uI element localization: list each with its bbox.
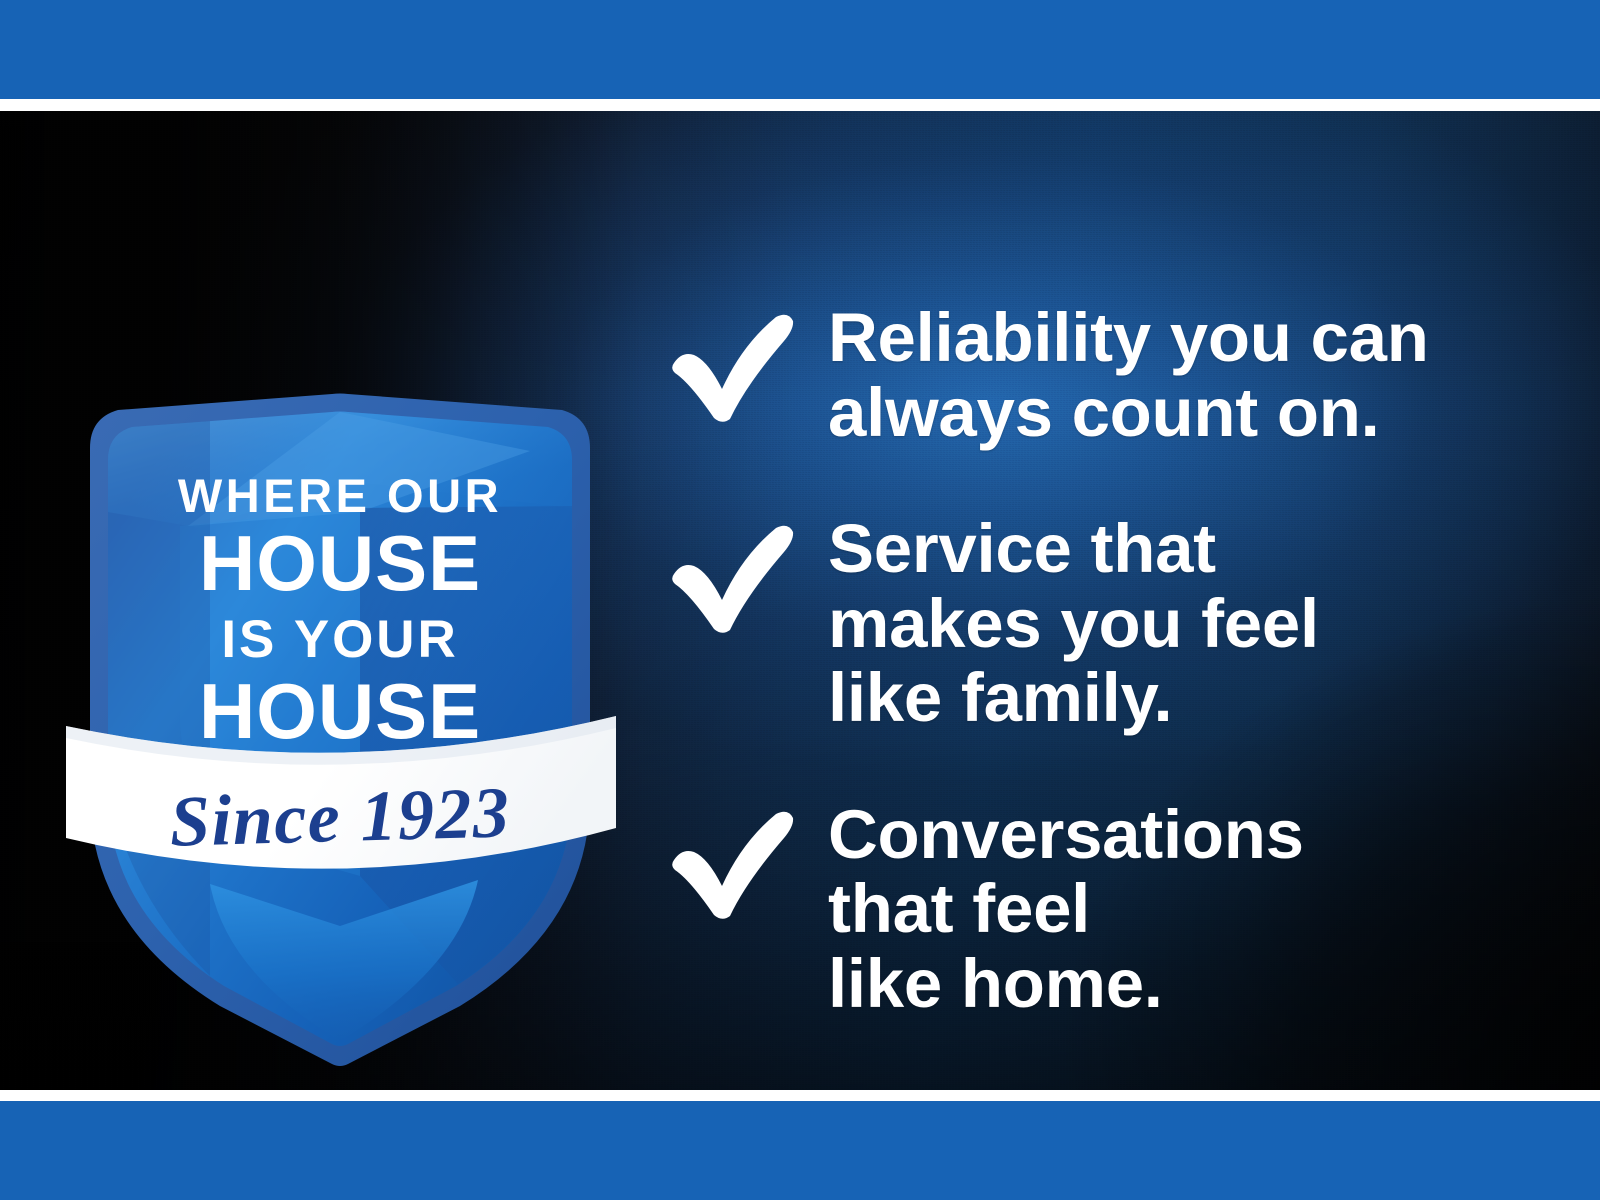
bottom-brand-bar	[0, 1101, 1600, 1200]
list-item-text: Conversations that feel like home.	[828, 798, 1540, 1022]
promo-graphic: WHERE OUR HOUSE IS YOUR HOUSE Since 1923…	[0, 0, 1600, 1200]
benefits-list: Reliability you can always count on. Ser…	[660, 301, 1540, 1021]
list-item: Reliability you can always count on.	[660, 301, 1540, 450]
check-icon	[660, 804, 798, 922]
check-icon	[660, 307, 798, 425]
list-item: Service that makes you feel like family.	[660, 512, 1540, 736]
shield-graphic	[60, 276, 620, 1066]
main-panel: WHERE OUR HOUSE IS YOUR HOUSE Since 1923…	[0, 111, 1600, 1090]
shield-badge: WHERE OUR HOUSE IS YOUR HOUSE Since 1923	[60, 276, 620, 1066]
check-icon	[660, 518, 798, 636]
top-brand-bar	[0, 0, 1600, 99]
list-item-text: Service that makes you feel like family.	[828, 512, 1540, 736]
list-item-text: Reliability you can always count on.	[828, 301, 1540, 450]
list-item: Conversations that feel like home.	[660, 798, 1540, 1022]
